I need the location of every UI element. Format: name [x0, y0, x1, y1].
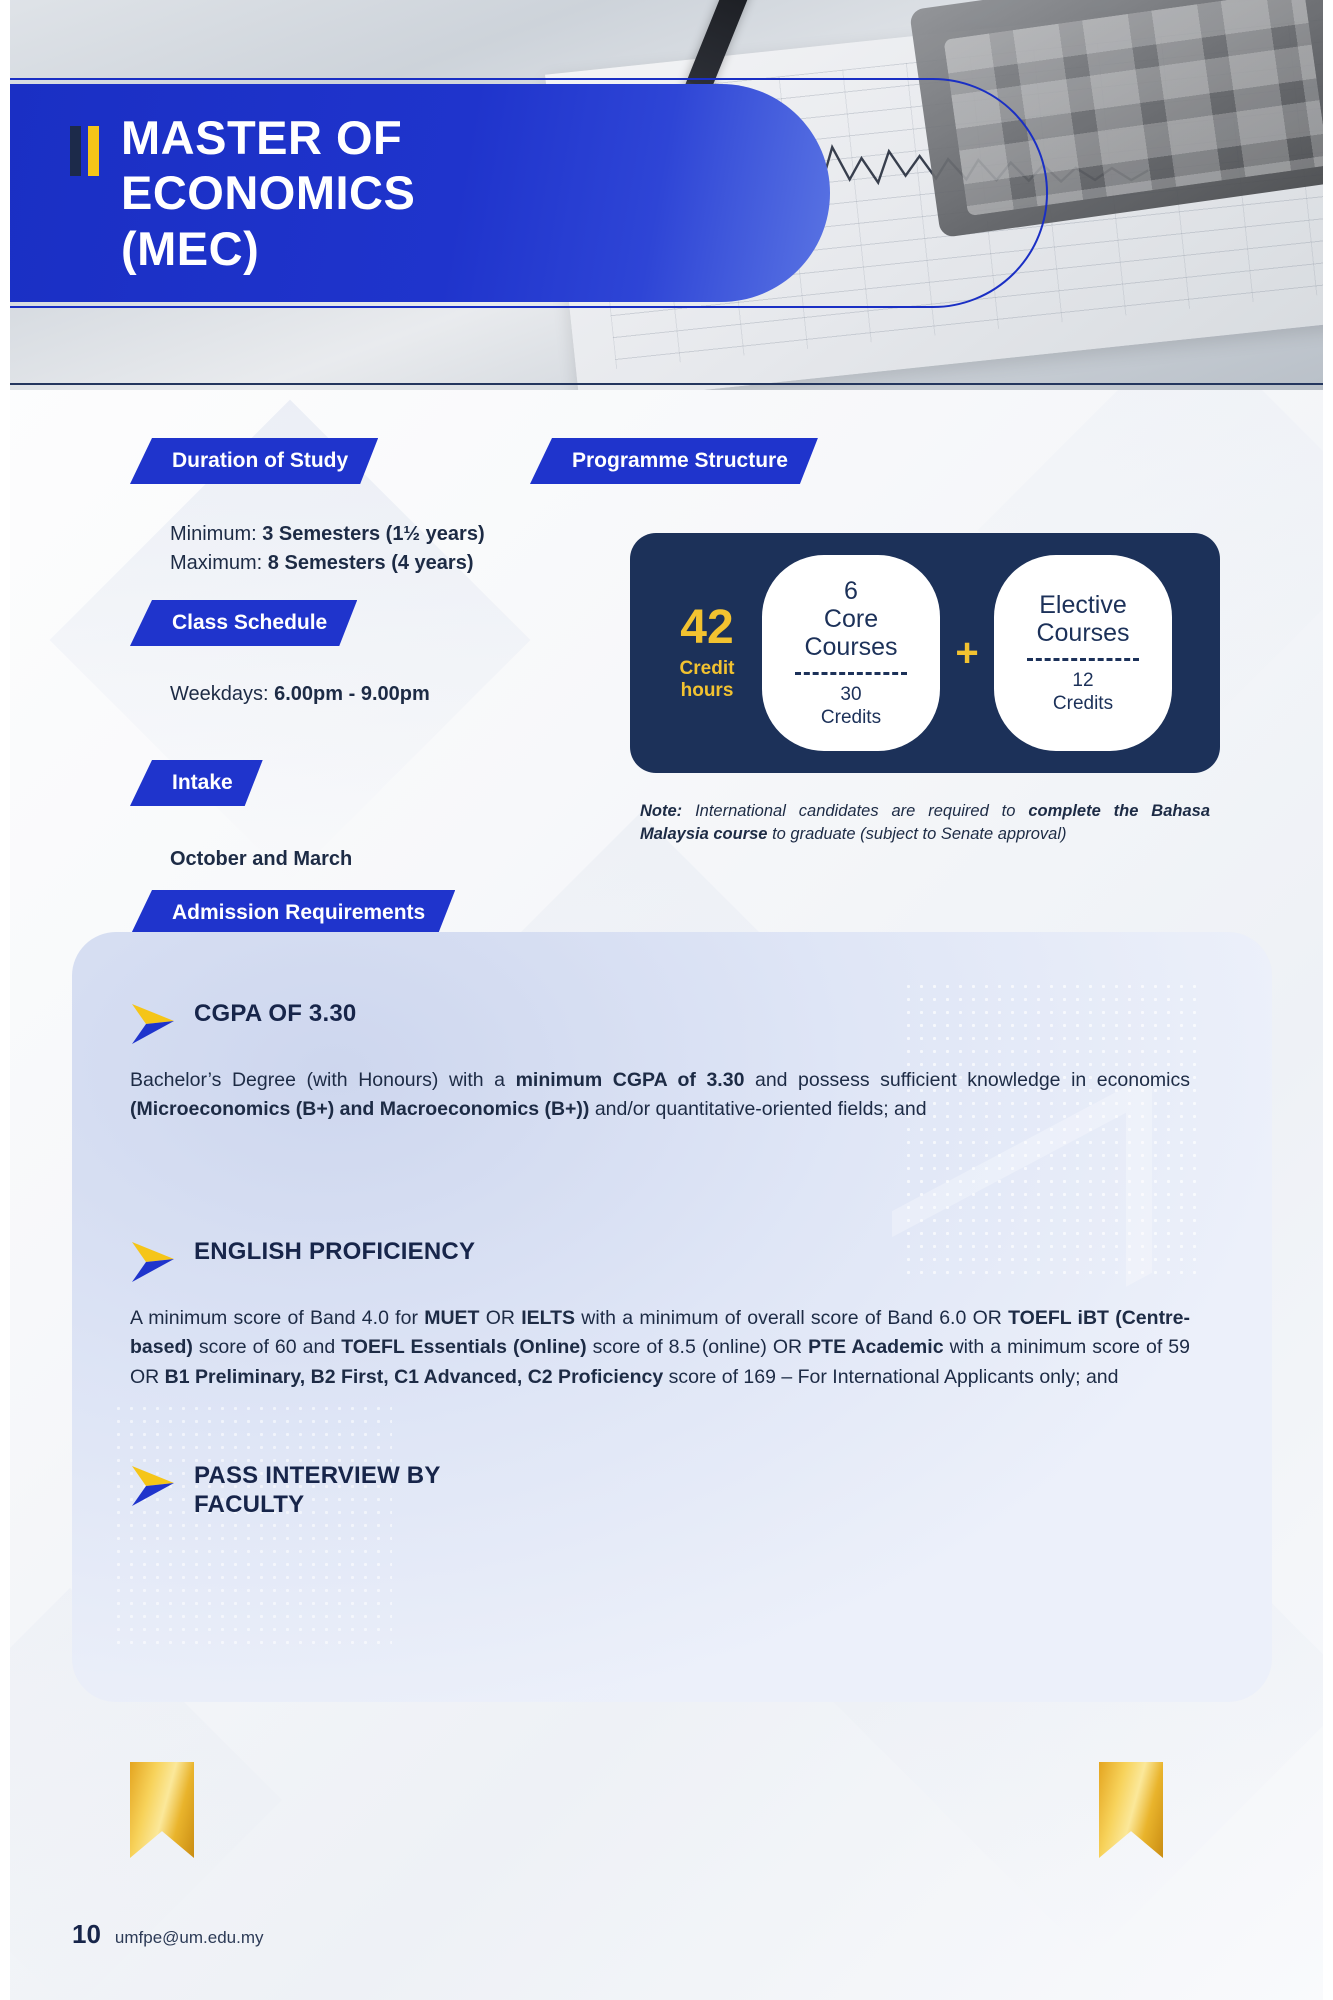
body-text: score of 60 and	[193, 1336, 341, 1358]
requirement-heading: CGPA OF 3.30	[130, 1000, 1190, 1046]
requirement-body: Bachelor’s Degree (with Honours) with a …	[130, 1066, 1190, 1125]
ribbon-label: Class Schedule	[172, 611, 327, 635]
ribbon-label: Programme Structure	[572, 449, 788, 473]
divider-dashed	[1027, 658, 1139, 661]
programme-structure-note: Note: International candidates are requi…	[640, 800, 1210, 847]
ribbon-label: Admission Requirements	[172, 901, 425, 925]
title-line-3: (MEC)	[121, 221, 415, 276]
elective-credits-label: Credits	[1053, 693, 1113, 716]
ribbon-intake: Intake	[130, 760, 263, 806]
elective-credits-number: 12	[1053, 670, 1113, 693]
page-number: 10	[72, 1919, 101, 1950]
duration-maximum-value: 8 Semesters (4 years)	[268, 552, 474, 574]
class-time-value: 6.00pm - 9.00pm	[274, 683, 430, 705]
core-courses-count: 6	[804, 577, 897, 605]
emphasised-text: TOEFL Essentials (Online)	[341, 1336, 586, 1358]
title-line-1: MASTER OF	[121, 110, 415, 165]
body-text: OR	[479, 1307, 521, 1329]
core-courses-name-line2: Courses	[804, 633, 897, 661]
page-title: MASTER OF ECONOMICS (MEC)	[121, 110, 415, 276]
class-schedule-value: Weekdays: 6.00pm - 9.00pm	[170, 680, 430, 709]
note-label: Note:	[640, 802, 682, 820]
contact-email: umfpe@um.edu.my	[115, 1928, 264, 1948]
programme-title-block: MASTER OF ECONOMICS (MEC)	[0, 84, 830, 302]
ribbon-label: Intake	[172, 771, 233, 795]
requirement-body: A minimum score of Band 4.0 for MUET OR …	[130, 1304, 1190, 1392]
emphasised-text: (Microeconomics (B+) and Macroeconomics …	[130, 1098, 589, 1120]
duration-minimum-row: Minimum: 3 Semesters (1½ years)	[170, 520, 485, 549]
elective-courses-pill: Elective Courses 12 Credits	[994, 555, 1172, 751]
body-text: score of 169 – For International Applica…	[663, 1366, 1118, 1388]
duration-maximum-label: Maximum:	[170, 552, 268, 574]
ribbon-admission-requirements: Admission Requirements	[130, 890, 455, 936]
brochure-page: MASTER OF ECONOMICS (MEC) Duration of St…	[0, 0, 1333, 2000]
total-credit-hours: 42 Credit hours	[652, 604, 762, 702]
total-credits-number: 42	[652, 604, 762, 652]
page-edge-right	[1323, 0, 1333, 2000]
plus-icon: +	[940, 631, 994, 676]
requirement-title: ENGLISH PROFICIENCY	[194, 1238, 475, 1267]
body-text: and possess sufficient knowledge in econ…	[744, 1069, 1190, 1091]
emphasised-text: B1 Preliminary, B2 First, C1 Advanced, C…	[165, 1366, 664, 1388]
intake-value: October and March	[170, 845, 352, 874]
dot-pattern-decor	[112, 1402, 392, 1652]
total-credits-label-line2: hours	[652, 680, 762, 702]
page-edge-left	[0, 0, 10, 2000]
arrow-marker-icon	[130, 1002, 176, 1046]
body-text: score of 8.5 (online) OR	[587, 1336, 809, 1358]
requirement-item-cgpa: CGPA OF 3.30 Bachelor’s Degree (with Hon…	[130, 1000, 1190, 1125]
arrow-marker-icon	[130, 1240, 176, 1284]
duration-minimum-value: 3 Semesters (1½ years)	[262, 523, 484, 545]
total-credits-label-line1: Credit	[652, 658, 762, 680]
note-text-2: to graduate (subject to Senate approval)	[768, 825, 1067, 843]
page-footer: 10 umfpe@um.edu.my	[72, 1919, 264, 1950]
body-text: Bachelor’s Degree (with Honours) with a	[130, 1069, 516, 1091]
requirement-heading: PASS INTERVIEW BY FACULTY	[130, 1462, 494, 1520]
bookmark-ribbon-icon	[130, 1762, 194, 1858]
ribbon-programme-structure: Programme Structure	[530, 438, 818, 484]
duration-maximum-row: Maximum: 8 Semesters (4 years)	[170, 549, 485, 578]
note-text-1: International candidates are required to	[682, 802, 1028, 820]
class-days-label: Weekdays:	[170, 683, 274, 705]
hero-divider	[0, 383, 1333, 385]
elective-courses-name-line2: Courses	[1036, 619, 1129, 647]
ribbon-label: Duration of Study	[172, 449, 348, 473]
ribbon-class-schedule: Class Schedule	[130, 600, 357, 646]
body-text: with a minimum of overall score of Band …	[575, 1307, 1008, 1329]
body-text: A minimum score of Band 4.0 for	[130, 1307, 424, 1329]
body-text: and/or quantitative-oriented fields; and	[589, 1098, 926, 1120]
emphasised-text: MUET	[424, 1307, 479, 1329]
duration-values: Minimum: 3 Semesters (1½ years) Maximum:…	[170, 520, 485, 578]
core-credits-label: Credits	[821, 707, 881, 730]
requirement-heading: ENGLISH PROFICIENCY	[130, 1238, 1190, 1284]
hero-banner: MASTER OF ECONOMICS (MEC)	[0, 0, 1333, 390]
core-courses-pill: 6 Core Courses 30 Credits	[762, 555, 940, 751]
emphasised-text: PTE Academic	[808, 1336, 943, 1358]
requirement-title: PASS INTERVIEW BY FACULTY	[194, 1462, 494, 1520]
divider-dashed	[795, 672, 907, 675]
duration-minimum-label: Minimum:	[170, 523, 262, 545]
elective-courses-name-line1: Elective	[1036, 591, 1129, 619]
core-courses-name-line1: Core	[804, 605, 897, 633]
title-line-2: ECONOMICS	[121, 165, 415, 220]
emphasised-text: IELTS	[521, 1307, 575, 1329]
core-credits-number: 30	[821, 684, 881, 707]
requirement-item-pass-interview: PASS INTERVIEW BY FACULTY	[130, 1462, 494, 1520]
emphasised-text: minimum CGPA of 3.30	[516, 1069, 745, 1091]
requirement-item-english-proficiency: ENGLISH PROFICIENCY A minimum score of B…	[130, 1238, 1190, 1392]
arrow-marker-icon	[130, 1464, 176, 1508]
requirement-title: CGPA OF 3.30	[194, 1000, 356, 1029]
bookmark-ribbon-icon	[1099, 1762, 1163, 1858]
title-accent-bars-icon	[70, 126, 99, 176]
programme-structure-card: 42 Credit hours 6 Core Courses 30 Credit…	[630, 533, 1220, 773]
ribbon-duration-of-study: Duration of Study	[130, 438, 378, 484]
